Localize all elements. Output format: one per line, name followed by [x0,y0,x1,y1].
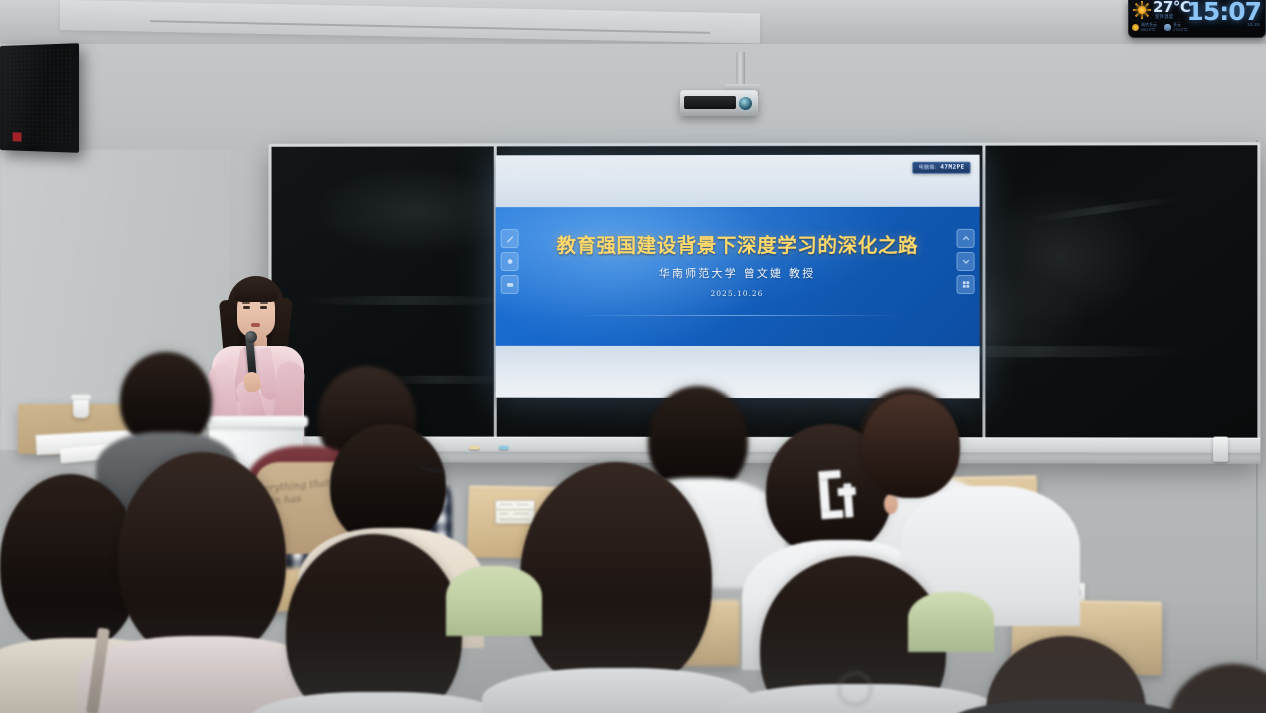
slide-date: 2025.10.26 [496,289,980,298]
audience-head [862,394,960,498]
podium-top [205,416,308,427]
cup-lid [71,395,91,400]
forecast-item: 多云 27/20℃ [1164,22,1188,32]
presenter-mouth [251,323,260,327]
audience-ear [884,494,898,514]
presentation-slide[interactable]: 教育强国建设背景下深度学习的深化之路 华南师范大学 曾文婕 教授 2025.10… [496,207,980,346]
clock-date: 10.26 [1247,22,1260,27]
screen-top-margin: 电脑端: 47M2PE [496,155,980,208]
projector-lens [739,97,752,110]
microphone-head [245,331,257,343]
projector-vent [684,96,736,109]
floor-shadow [0,600,1266,713]
chalk-piece[interactable] [469,446,480,450]
presenter-eye [243,306,250,309]
forecast-temp: 28/19℃ [1141,27,1157,32]
forecast-item: 晴转多云 28/19℃ [1132,22,1157,32]
connection-badge: 电脑端: 47M2PE [913,162,971,174]
sun-icon [1133,1,1151,19]
forecast-temp: 27/20℃ [1173,27,1188,32]
hair-clip [816,469,864,524]
wall-speaker [0,43,79,153]
drinking-cup [73,398,89,418]
presenter-eye [260,306,267,309]
wall-clock-weather-display[interactable]: 27°C 室外温度 晴转多云 28/19℃ 多云 27/20℃ [1128,0,1266,38]
sun-icon [1132,24,1139,31]
connection-label: 电脑端: [919,164,937,171]
projection-screen[interactable]: 电脑端: 47M2PE [496,155,980,399]
lecture-hall-photo: 27°C 室外温度 晴转多云 28/19℃ 多云 27/20℃ [0,0,1266,713]
time-section: 15:07 10.26 [1203,0,1265,37]
connection-code: 47M2PE [940,164,964,171]
slide-divider [573,315,902,316]
eraser[interactable] [1213,437,1228,462]
chalk-piece[interactable] [499,446,509,450]
blackboard-panel-divider [982,146,985,438]
cloud-icon [1164,24,1171,31]
presenter-fringe [234,283,278,302]
temperature-caption: 室外温度 [1155,14,1173,20]
chair-number-label [495,500,535,524]
speaker-brand-logo [13,132,22,141]
slide-subtitle: 华南师范大学 曾文婕 教授 [496,265,980,281]
slide-title: 教育强国建设背景下深度学习的深化之路 [496,229,980,258]
